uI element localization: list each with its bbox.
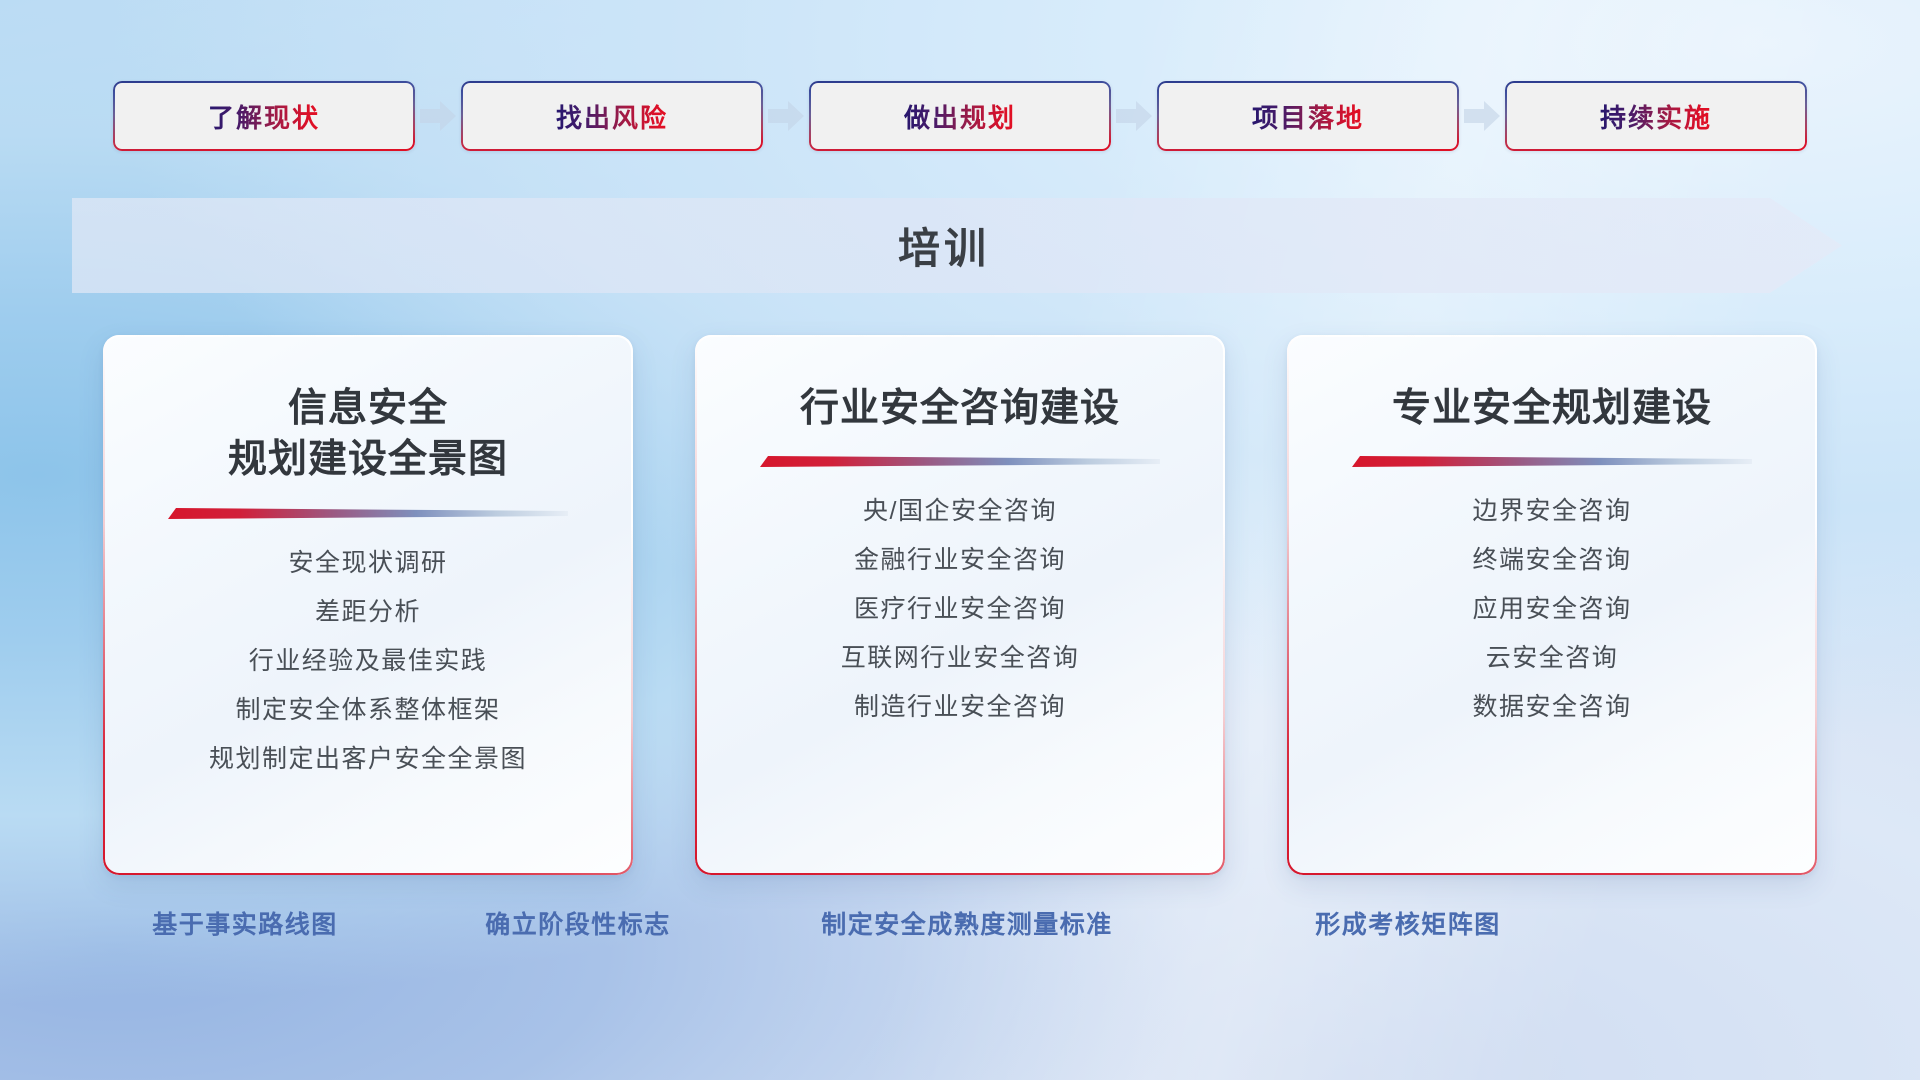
step-label: 做出规划: [904, 98, 1016, 135]
list-item: 应用安全咨询: [1472, 592, 1631, 627]
step-box-2[interactable]: 找出风险: [461, 81, 763, 151]
service-card-1[interactable]: 信息安全 规划建设全景图安全现状调研差距分析行业经验及最佳实践制定安全体系整体框…: [103, 335, 633, 875]
service-card-2[interactable]: 行业安全咨询建设央/国企安全咨询金融行业安全咨询医疗行业安全咨询互联网行业安全咨…: [695, 335, 1225, 875]
list-item: 云安全咨询: [1486, 641, 1619, 676]
caption-2: 确立阶段性标志: [485, 905, 671, 941]
list-item: 制造行业安全咨询: [854, 690, 1066, 725]
card-divider: [1352, 454, 1752, 476]
step-box-1[interactable]: 了解现状: [113, 81, 415, 151]
list-item: 终端安全咨询: [1472, 543, 1631, 578]
service-card-3[interactable]: 专业安全规划建设边界安全咨询终端安全咨询应用安全咨询云安全咨询数据安全咨询: [1287, 335, 1817, 875]
card-item-list: 安全现状调研差距分析行业经验及最佳实践制定安全体系整体框架规划制定出客户安全全景…: [103, 546, 633, 777]
step-box-3[interactable]: 做出规划: [809, 81, 1111, 151]
card-title: 行业安全咨询建设: [800, 383, 1120, 434]
step-label: 找出风险: [556, 98, 668, 135]
step-label: 项目落地: [1252, 98, 1364, 135]
list-item: 安全现状调研: [288, 546, 447, 581]
step-box-5[interactable]: 持续实施: [1505, 81, 1807, 151]
step-label: 了解现状: [208, 98, 320, 135]
step-box-4[interactable]: 项目落地: [1157, 81, 1459, 151]
list-item: 金融行业安全咨询: [854, 543, 1066, 578]
caption-3: 制定安全成熟度测量标准: [821, 905, 1113, 941]
card-divider: [168, 506, 568, 528]
list-item: 制定安全体系整体框架: [235, 693, 500, 728]
list-item: 行业经验及最佳实践: [249, 644, 488, 679]
list-item: 边界安全咨询: [1472, 494, 1631, 529]
list-item: 互联网行业安全咨询: [841, 641, 1080, 676]
step-arrow-icon: [1459, 80, 1505, 152]
step-arrow-icon: [1111, 80, 1157, 152]
list-item: 规划制定出客户安全全景图: [209, 742, 527, 777]
card-title: 专业安全规划建设: [1392, 383, 1712, 434]
step-label: 持续实施: [1600, 98, 1712, 135]
service-card-row: 信息安全 规划建设全景图安全现状调研差距分析行业经验及最佳实践制定安全体系整体框…: [0, 335, 1920, 875]
caption-4: 形成考核矩阵图: [1315, 905, 1501, 941]
card-item-list: 边界安全咨询终端安全咨询应用安全咨询云安全咨询数据安全咨询: [1287, 494, 1817, 725]
card-divider: [760, 454, 1160, 476]
banner-title: 培训: [72, 198, 1842, 293]
step-arrow-icon: [415, 80, 461, 152]
process-step-row: 了解现状找出风险做出规划项目落地持续实施: [0, 80, 1920, 152]
card-title: 信息安全 规划建设全景图: [228, 383, 508, 486]
step-arrow-icon: [763, 80, 809, 152]
caption-1: 基于事实路线图: [152, 905, 338, 941]
training-banner: 培训: [72, 198, 1842, 293]
card-item-list: 央/国企安全咨询金融行业安全咨询医疗行业安全咨询互联网行业安全咨询制造行业安全咨…: [695, 494, 1225, 725]
list-item: 医疗行业安全咨询: [854, 592, 1066, 627]
list-item: 数据安全咨询: [1472, 690, 1631, 725]
list-item: 差距分析: [315, 595, 421, 630]
caption-row: 基于事实路线图确立阶段性标志制定安全成熟度测量标准形成考核矩阵图: [0, 905, 1920, 951]
list-item: 央/国企安全咨询: [863, 494, 1057, 529]
